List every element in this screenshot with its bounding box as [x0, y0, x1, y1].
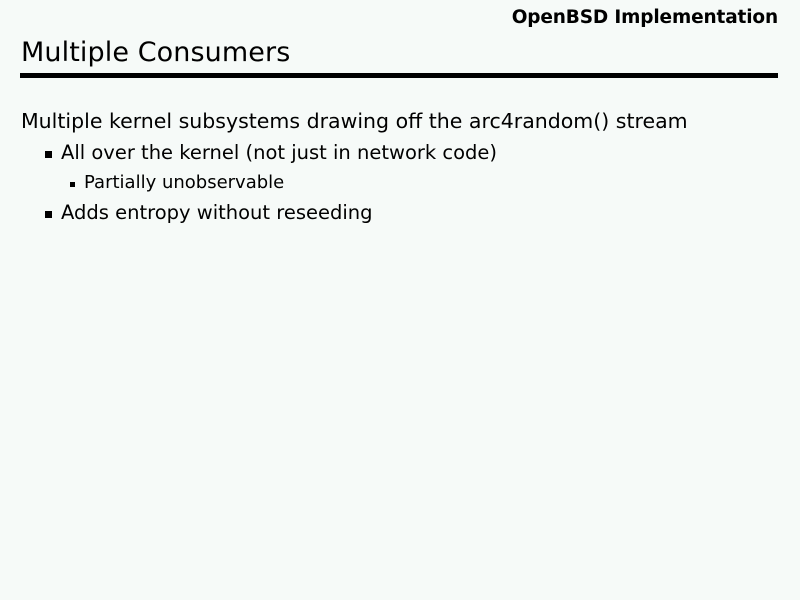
- bullet-item: Adds entropy without reseeding: [0, 198, 800, 228]
- bullet-item: Partially unobservable: [0, 168, 800, 198]
- bullet-text: Adds entropy without reseeding: [61, 198, 373, 227]
- bullet-item: Multiple kernel subsystems drawing off t…: [0, 106, 800, 138]
- slide-title: Multiple Consumers: [21, 36, 290, 70]
- bullet-text: Multiple kernel subsystems drawing off t…: [21, 106, 688, 136]
- title-divider-rule: [20, 73, 778, 78]
- bullet-marker-icon: [45, 211, 52, 218]
- bullet-item: All over the kernel (not just in network…: [0, 138, 800, 168]
- slide-canvas: OpenBSD Implementation Multiple Consumer…: [0, 0, 800, 600]
- slide-body: Multiple kernel subsystems drawing off t…: [0, 106, 800, 228]
- bullet-text: All over the kernel (not just in network…: [61, 138, 497, 167]
- slide-header-text: OpenBSD Implementation: [20, 6, 778, 30]
- bullet-marker-icon: [45, 151, 52, 158]
- bullet-marker-icon: [70, 182, 75, 187]
- bullet-text: Partially unobservable: [84, 168, 284, 197]
